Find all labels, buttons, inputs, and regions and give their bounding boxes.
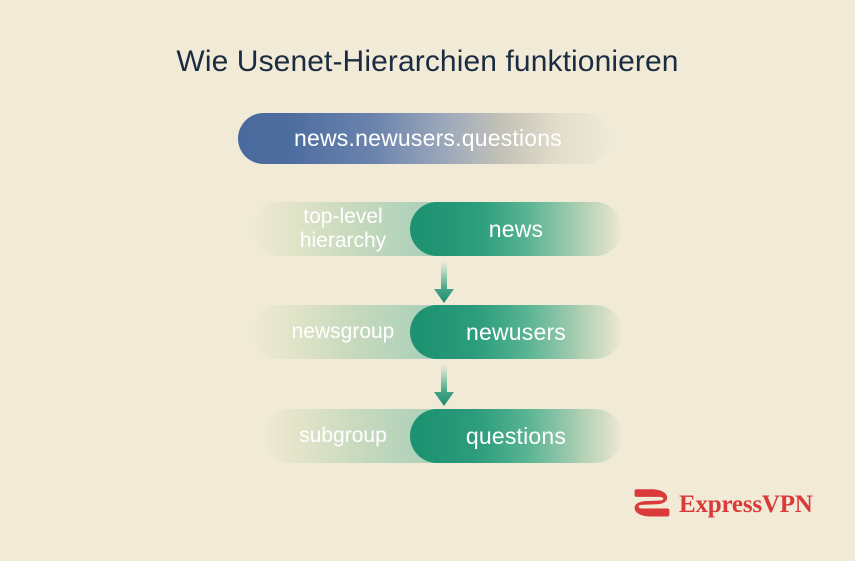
arrow-down-icon: [432, 365, 456, 407]
hierarchy-row-value: questions: [410, 409, 622, 463]
hierarchy-row-top-level: top-level hierarchy news: [252, 202, 622, 256]
expressvpn-e-mark-icon: [634, 488, 670, 522]
hierarchy-row-label: top-level hierarchy: [276, 202, 410, 256]
hierarchy-row-label: subgroup: [276, 409, 410, 463]
hierarchy-row-subgroup: subgroup questions: [262, 409, 622, 463]
full-newsgroup-name-text: news.newusers.questions: [238, 113, 610, 164]
hierarchy-row-label: newsgroup: [276, 305, 410, 359]
expressvpn-wordmark: ExpressVPN: [679, 491, 813, 519]
hierarchy-row-value: newusers: [410, 305, 622, 359]
hierarchy-row-newsgroup: newsgroup newusers: [252, 305, 622, 359]
expressvpn-logo: ExpressVPN: [634, 486, 786, 524]
full-newsgroup-name-pill: news.newusers.questions: [238, 113, 610, 164]
hierarchy-row-value: news: [410, 202, 622, 256]
page-title: Wie Usenet-Hierarchien funktionieren: [0, 45, 855, 79]
infographic-canvas: Wie Usenet-Hierarchien funktionieren new…: [0, 0, 855, 561]
arrow-down-icon: [432, 262, 456, 304]
